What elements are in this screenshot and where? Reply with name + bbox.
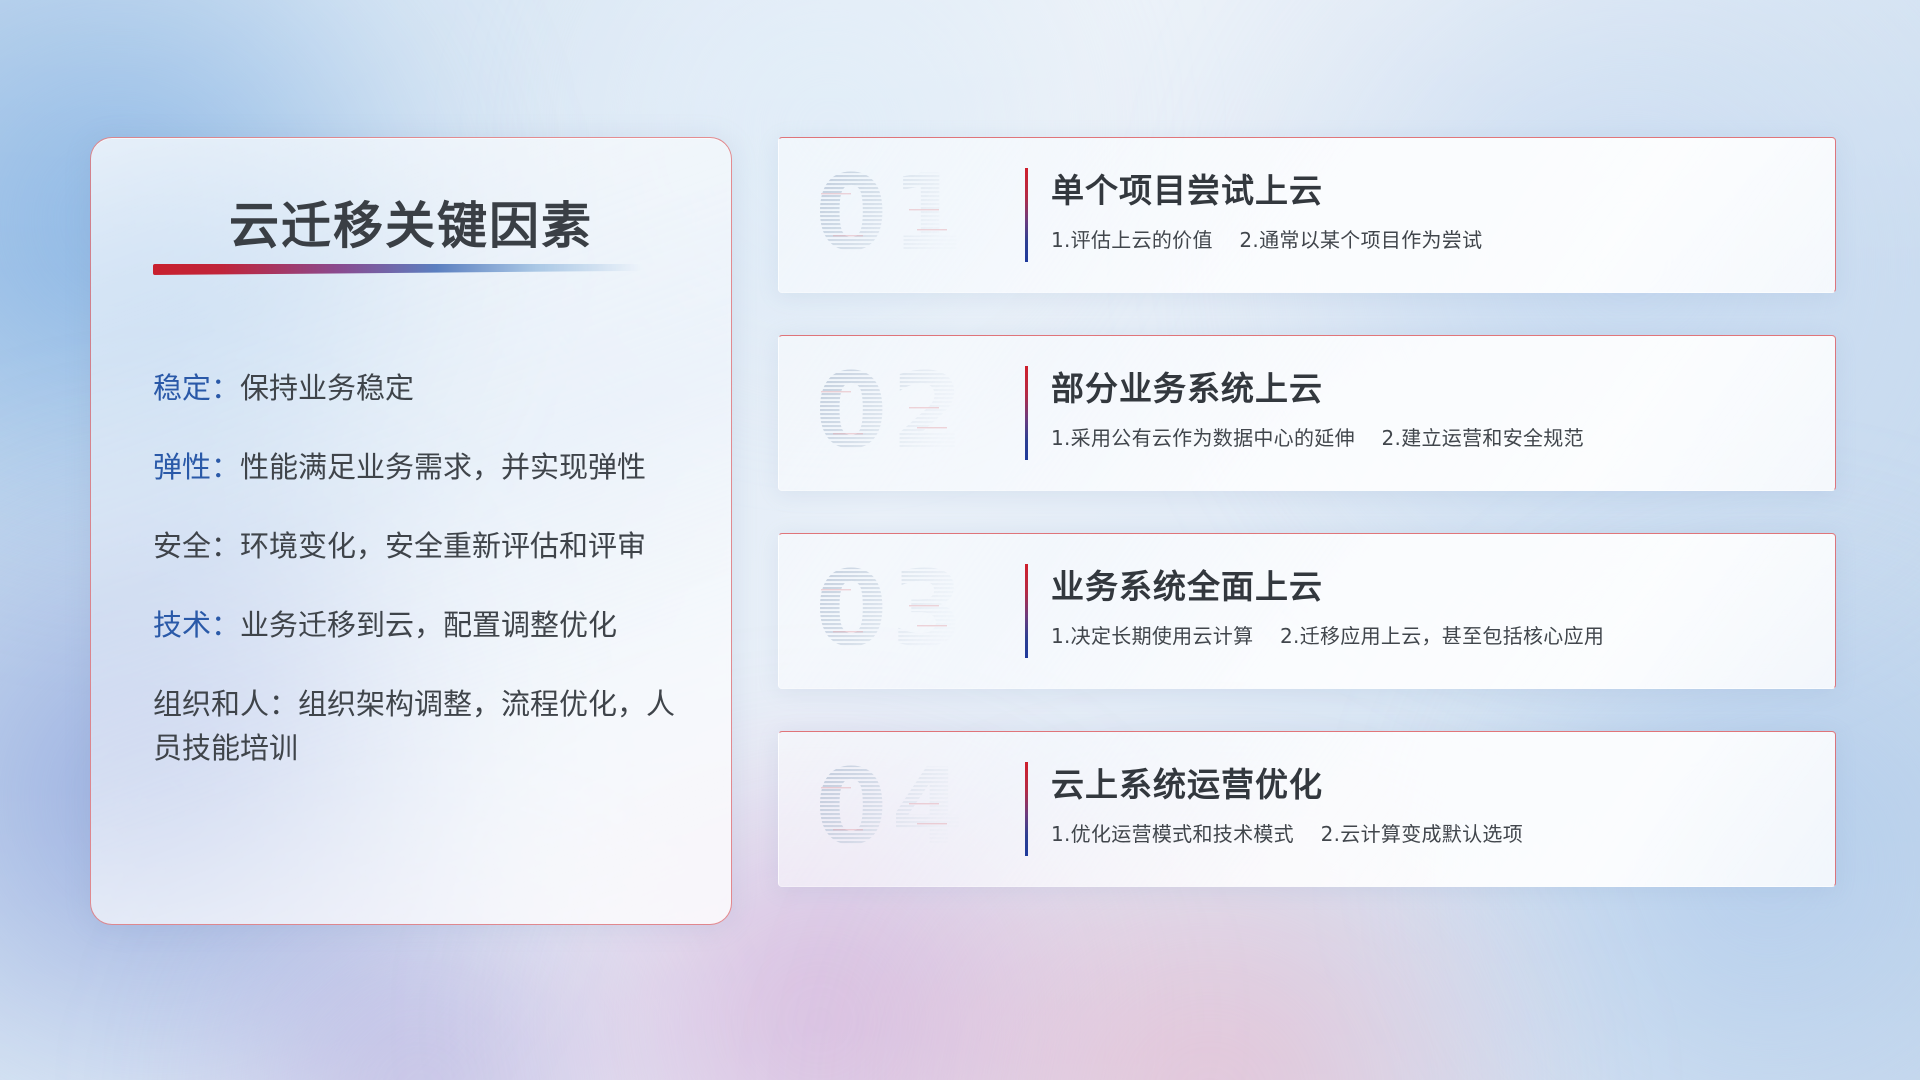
panel-title: 云迁移关键因素 bbox=[91, 186, 731, 258]
stage-card-subtitle: 1.评估上云的价值 2.通常以某个项目作为尝试 bbox=[1051, 224, 1809, 253]
key-factor-label: 组织和人： bbox=[153, 687, 298, 721]
svg-text:03: 03 bbox=[815, 559, 968, 663]
title-underline-accent bbox=[153, 264, 641, 275]
stage-card-list: 01单个项目尝试上云1.评估上云的价值 2.通常以某个项目作为尝试02部分业务系… bbox=[778, 137, 1836, 929]
stage-number-watermark: 02 bbox=[813, 361, 995, 465]
key-factor-text: 保持业务稳定 bbox=[240, 371, 414, 405]
stage-card-title: 业务系统全面上云 bbox=[1051, 560, 1809, 608]
stage-card-subtitle: 1.采用公有云作为数据中心的延伸 2.建立运营和安全规范 bbox=[1051, 422, 1809, 451]
key-factor-label: 稳定： bbox=[153, 371, 240, 405]
svg-text:01: 01 bbox=[815, 163, 968, 267]
stage-divider-bar bbox=[1025, 168, 1028, 262]
stage-card[interactable]: 04云上系统运营优化1.优化运营模式和技术模式 2.云计算变成默认选项 bbox=[778, 731, 1836, 887]
key-factor-row: 稳定：保持业务稳定 bbox=[153, 366, 691, 410]
key-factor-row: 安全：环境变化，安全重新评估和评审 bbox=[153, 524, 691, 568]
key-factor-text: 环境变化，安全重新评估和评审 bbox=[240, 529, 646, 563]
key-factor-label: 安全： bbox=[153, 529, 240, 563]
stage-card[interactable]: 01单个项目尝试上云1.评估上云的价值 2.通常以某个项目作为尝试 bbox=[778, 137, 1836, 293]
stage-card-subtitle: 1.优化运营模式和技术模式 2.云计算变成默认选项 bbox=[1051, 818, 1809, 847]
stage-card-text: 单个项目尝试上云1.评估上云的价值 2.通常以某个项目作为尝试 bbox=[1051, 164, 1809, 253]
stage-card-text: 云上系统运营优化1.优化运营模式和技术模式 2.云计算变成默认选项 bbox=[1051, 758, 1809, 847]
stage-card-title: 部分业务系统上云 bbox=[1051, 362, 1809, 410]
stage-divider-bar bbox=[1025, 564, 1028, 658]
key-factors-panel: 云迁移关键因素 稳定：保持业务稳定弹性：性能满足业务需求，并实现弹性安全：环境变… bbox=[90, 137, 732, 925]
stage-card-text: 业务系统全面上云1.决定长期使用云计算 2.迁移应用上云，甚至包括核心应用 bbox=[1051, 560, 1809, 649]
stage-divider-bar bbox=[1025, 366, 1028, 460]
key-factors-list: 稳定：保持业务稳定弹性：性能满足业务需求，并实现弹性安全：环境变化，安全重新评估… bbox=[153, 366, 691, 805]
stage-number-watermark: 04 bbox=[813, 757, 995, 861]
key-factor-text: 业务迁移到云，配置调整优化 bbox=[240, 608, 617, 642]
stage-card-subtitle: 1.决定长期使用云计算 2.迁移应用上云，甚至包括核心应用 bbox=[1051, 620, 1809, 649]
key-factor-text: 性能满足业务需求，并实现弹性 bbox=[240, 450, 646, 484]
stage-number-watermark: 01 bbox=[813, 163, 995, 267]
stage-card-text: 部分业务系统上云1.采用公有云作为数据中心的延伸 2.建立运营和安全规范 bbox=[1051, 362, 1809, 451]
key-factor-label: 弹性： bbox=[153, 450, 240, 484]
key-factor-row: 技术：业务迁移到云，配置调整优化 bbox=[153, 603, 691, 647]
stage-card-title: 云上系统运营优化 bbox=[1051, 758, 1809, 806]
stage-divider-bar bbox=[1025, 762, 1028, 856]
stage-card-title: 单个项目尝试上云 bbox=[1051, 164, 1809, 212]
svg-text:02: 02 bbox=[815, 361, 968, 465]
stage-card[interactable]: 02部分业务系统上云1.采用公有云作为数据中心的延伸 2.建立运营和安全规范 bbox=[778, 335, 1836, 491]
key-factor-label: 技术： bbox=[153, 608, 240, 642]
stage-number-watermark: 03 bbox=[813, 559, 995, 663]
key-factor-row: 弹性：性能满足业务需求，并实现弹性 bbox=[153, 445, 691, 489]
svg-text:04: 04 bbox=[815, 757, 968, 861]
key-factor-row: 组织和人：组织架构调整，流程优化，人员技能培训 bbox=[153, 682, 691, 770]
stage-card[interactable]: 03业务系统全面上云1.决定长期使用云计算 2.迁移应用上云，甚至包括核心应用 bbox=[778, 533, 1836, 689]
